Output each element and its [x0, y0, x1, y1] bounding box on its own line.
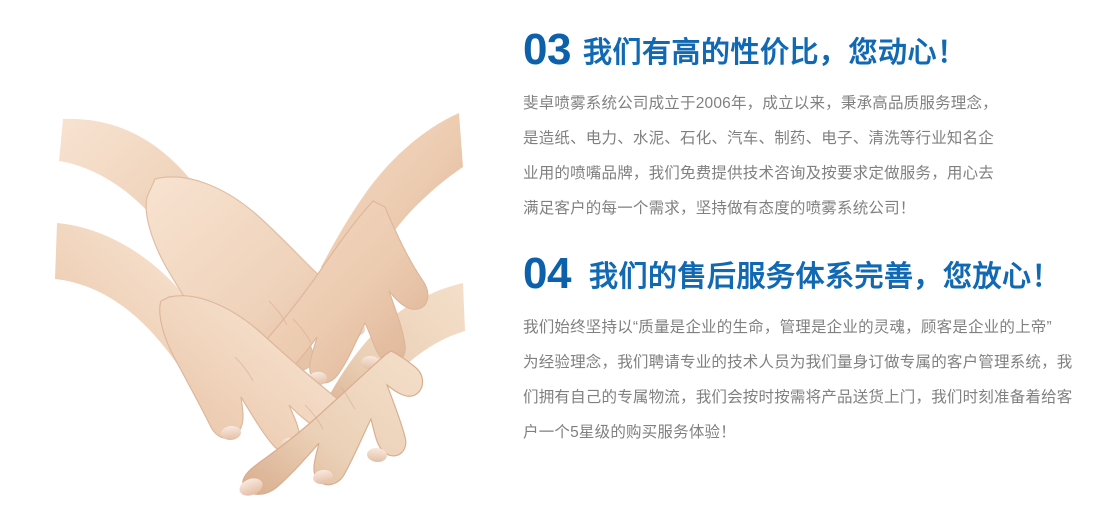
- page-root: 03我们有高的性价比，您动心！ 斐卓喷雾系统公司成立于2006年，成立以来，秉承…: [0, 0, 1108, 513]
- section-04-heading-text: 我们的售后服务体系完善，您放心！: [589, 261, 1061, 293]
- paragraph-line: 我们始终坚持以“质量是企业的生命，管理是企业的灵魂，顾客是企业的上帝”: [523, 310, 1103, 345]
- section-03-paragraph: 斐卓喷雾系统公司成立于2006年，成立以来，秉承高品质服务理念， 是造纸、电力、…: [523, 86, 1103, 226]
- section-03-heading: 03我们有高的性价比，您动心！: [523, 28, 1103, 72]
- paragraph-line: 斐卓喷雾系统公司成立于2006年，成立以来，秉承高品质服务理念，: [523, 86, 1103, 121]
- paragraph-line: 业用的喷嘴品牌，我们免费提供技术咨询及按要求定做服务，用心去: [523, 156, 1103, 191]
- section-04-number: 04: [523, 249, 571, 298]
- section-03-heading-text: 我们有高的性价比，您动心！: [583, 37, 967, 69]
- section-03: 03我们有高的性价比，您动心！ 斐卓喷雾系统公司成立于2006年，成立以来，秉承…: [523, 28, 1103, 226]
- section-03-number: 03: [523, 25, 571, 74]
- stacked-hands-teamwork-photo: [55, 105, 465, 505]
- paragraph-line: 满足客户的每一个需求，坚持做有态度的喷雾系统公司！: [523, 191, 1103, 226]
- section-04-heading: 04我们的售后服务体系完善，您放心！: [523, 252, 1103, 296]
- section-04-paragraph: 我们始终坚持以“质量是企业的生命，管理是企业的灵魂，顾客是企业的上帝” 为经验理…: [523, 310, 1103, 450]
- paragraph-line: 们拥有自己的专属物流，我们会按时按需将产品送货上门，我们时刻准备着给客: [523, 380, 1103, 415]
- paragraph-line: 户一个5星级的购买服务体验！: [523, 415, 1103, 450]
- section-04: 04我们的售后服务体系完善，您放心！ 我们始终坚持以“质量是企业的生命，管理是企…: [523, 252, 1103, 450]
- paragraph-line: 是造纸、电力、水泥、石化、汽车、制药、电子、清洗等行业知名企: [523, 121, 1103, 156]
- paragraph-line: 为经验理念，我们聘请专业的技术人员为我们量身订做专属的客户管理系统，我: [523, 345, 1103, 380]
- photo-pane: [0, 0, 505, 513]
- content-pane: 03我们有高的性价比，您动心！ 斐卓喷雾系统公司成立于2006年，成立以来，秉承…: [505, 0, 1108, 513]
